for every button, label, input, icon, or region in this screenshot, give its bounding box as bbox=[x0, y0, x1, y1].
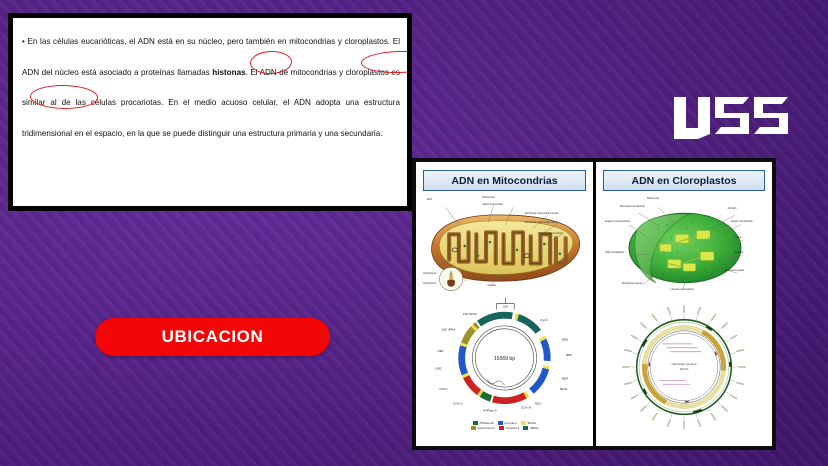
legend-swatch-trnas bbox=[521, 421, 526, 424]
legend-label-trnas: tRNAs bbox=[528, 421, 536, 425]
text-card: • En las células eucarióticas, el ADN es… bbox=[8, 13, 412, 211]
gene-label-nd2: ND2 bbox=[436, 367, 442, 371]
legend-label-rrnas: rRNAs bbox=[530, 426, 539, 430]
legend-swatch-atpase06 bbox=[473, 421, 478, 424]
gene-label-nd1: ND1 bbox=[437, 349, 443, 353]
legend-swatch-cytochromeb bbox=[471, 426, 476, 429]
cp-label-grana: Grana bbox=[734, 237, 741, 240]
gene-label-nd3: ND3 bbox=[535, 402, 541, 406]
gene-label-16s: 16S rRNA bbox=[441, 328, 456, 332]
panel-mitocondrias-body: ADN Ribosomas Matriz mitocondrial Membra… bbox=[420, 194, 589, 443]
mtdna-legend: ATPase 06 Complex I tRNAs bbox=[420, 421, 589, 432]
gene-label-atpase6: ATPase 6 bbox=[483, 408, 497, 412]
gene-label-coxiii: COX III bbox=[521, 405, 531, 409]
cpdna-size-label: 154 kb bbox=[680, 367, 689, 371]
panel-mitocondrias-header: ADN en Mitocondrias bbox=[423, 170, 586, 191]
cpdna-center-caption-1: chloroplast genome bbox=[671, 362, 696, 366]
mito-label-adn: ADN bbox=[427, 199, 432, 202]
mito-label-crestas: Crestas bbox=[488, 285, 496, 288]
panel-cloroplastos: ADN en Cloroplastos bbox=[594, 162, 772, 446]
chloroplast-diagram: Ribosomas Membrana del tilacoide Espacio… bbox=[600, 194, 768, 297]
legend-item-atpase06: ATPase 06 bbox=[473, 421, 494, 425]
ubicacion-button-label: UBICACION bbox=[162, 327, 264, 347]
cp-label-almidon: Almidón bbox=[728, 208, 737, 211]
legend-swatch-complex4 bbox=[499, 426, 504, 429]
mito-label-membrana-externa: Membrana mitocondrial externa bbox=[525, 213, 559, 216]
legend-swatch-rrnas bbox=[523, 426, 528, 429]
image-panels-container: ADN en Mitocondrias bbox=[412, 158, 776, 450]
cp-label-ribosomas: Ribosomas bbox=[647, 198, 659, 201]
cp-label-granulos-grasa: Gránulos de grasa bbox=[724, 270, 744, 273]
gene-label-nd6: ND6 bbox=[562, 337, 568, 341]
mtdna-size-label: 16569 bp bbox=[494, 356, 515, 362]
text-card-content: • En las células eucarióticas, el ADN es… bbox=[22, 27, 400, 202]
mito-label-membrana-interna: Membrana mitocondrial interna bbox=[525, 222, 558, 225]
gene-label-nd5: ND5 bbox=[566, 353, 572, 357]
cp-label-espacio-tilacoide: Espacio del tilacoide bbox=[731, 221, 753, 224]
cp-label-estroma: Estroma bbox=[734, 252, 743, 255]
slide-root: • En las células eucarióticas, el ADN es… bbox=[0, 0, 828, 466]
mitochondrion-illustration bbox=[420, 194, 589, 298]
body-segment-3: . El ADN de mitocondrias y cloroplastos … bbox=[22, 68, 400, 138]
cpdna-circle-illustration: chloroplast genome 154 kb bbox=[600, 297, 768, 437]
body-segment-bold: histonas bbox=[212, 68, 245, 77]
mtdna-legend-row-1: ATPase 06 Complex I tRNAs bbox=[424, 421, 585, 425]
gene-label-12s: 12S rRNA bbox=[463, 312, 478, 316]
panel-cloroplastos-body: Ribosomas Membrana del tilacoide Espacio… bbox=[600, 194, 768, 443]
cpdna-genome-map: chloroplast genome 154 kb bbox=[600, 297, 768, 442]
legend-label-cytochromeb: Cytochrome b bbox=[477, 426, 495, 430]
panel-mitocondrias: ADN en Mitocondrias bbox=[416, 162, 594, 446]
mito-label-particula-f1: Partícula F1 bbox=[423, 283, 436, 286]
panel-mitocondrias-title: ADN en Mitocondrias bbox=[451, 175, 557, 187]
gene-label-coxii: COX II bbox=[453, 402, 462, 406]
gene-label-oh: OH bbox=[503, 304, 508, 308]
cp-label-membrana-tilacoide: Membrana del tilacoide bbox=[620, 206, 645, 209]
panel-cloroplastos-title: ADN en Cloroplastos bbox=[631, 175, 736, 187]
mtdna-circle-illustration: 16569 bp OH Cyt b ND6 ND5 ND4 ND4L bbox=[420, 297, 589, 415]
legend-item-cytochromeb: Cytochrome b bbox=[471, 426, 496, 430]
mito-label-particula-fo: Partícula Fo bbox=[423, 273, 436, 276]
panel-cloroplastos-header: ADN en Cloroplastos bbox=[603, 170, 765, 191]
mitochondrion-diagram: ADN Ribosomas Matriz mitocondrial Membra… bbox=[420, 194, 589, 297]
legend-item-complex1: Complex I bbox=[498, 421, 518, 425]
mtdna-legend-row-2: Cytochrome b Complex 4 rRNAs bbox=[424, 426, 585, 430]
legend-swatch-complex1 bbox=[498, 421, 503, 424]
cp-label-adn-cloroplastico: ADN cloroplástico bbox=[605, 252, 624, 255]
cp-label-espacio-intermembrana: Espacio intermembrana bbox=[605, 221, 630, 224]
uss-logo-mark bbox=[672, 95, 794, 141]
gene-label-coxi: COX I bbox=[439, 387, 448, 391]
legend-label-complex4: Complex 4 bbox=[506, 426, 520, 430]
cp-label-laminas-estromaticas: Láminas estromáticas bbox=[671, 289, 694, 292]
legend-item-rrnas: rRNAs bbox=[523, 426, 538, 430]
legend-item-trnas: tRNAs bbox=[521, 421, 536, 425]
legend-item-complex4: Complex 4 bbox=[499, 426, 519, 430]
ubicacion-button[interactable]: UBICACION bbox=[95, 318, 330, 356]
bullet-marker: • bbox=[22, 37, 25, 46]
body-paragraph: • En las células eucarióticas, el ADN es… bbox=[22, 27, 400, 149]
mito-label-matriz: Matriz mitocondrial bbox=[483, 204, 503, 207]
cp-label-membrana-externa: Membrana externa bbox=[622, 283, 642, 286]
mito-label-espacio: Espacio intermembrana bbox=[538, 233, 563, 236]
mito-label-ribosomas: Ribosomas bbox=[483, 197, 495, 200]
gene-label-nd4l: ND4L bbox=[560, 387, 568, 391]
gene-label-nd4: ND4 bbox=[562, 376, 568, 380]
legend-label-atpase06: ATPase 06 bbox=[480, 421, 494, 425]
uss-logo bbox=[672, 95, 794, 141]
gene-label-cytb: Cyt b bbox=[540, 318, 548, 322]
mtdna-genome-map: 16569 bp OH Cyt b ND6 ND5 ND4 ND4L bbox=[420, 297, 589, 432]
legend-label-complex1: Complex I bbox=[504, 421, 517, 425]
